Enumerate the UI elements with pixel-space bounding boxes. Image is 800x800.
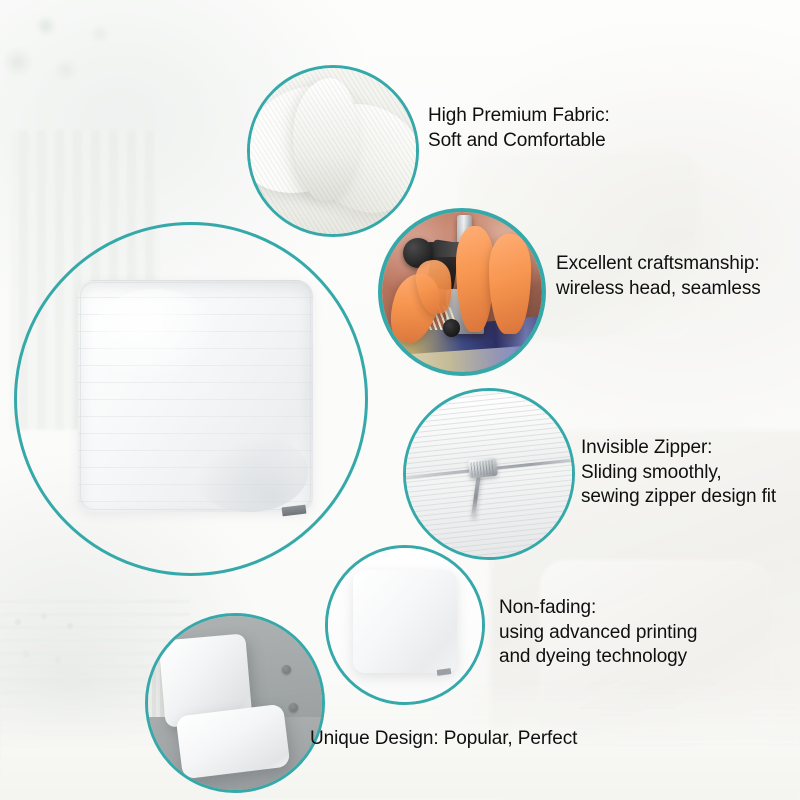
sewing-bobbin: [443, 319, 461, 337]
nonfading-pillow-art: [328, 548, 482, 702]
zipper-closeup-art: [406, 391, 572, 557]
sofa-tuft-button-1: [282, 665, 291, 674]
feature-label-fabric: High Premium Fabric: Soft and Comfortabl…: [428, 104, 610, 153]
zipper-slider: [468, 458, 498, 479]
feature-image-craftsmanship: [378, 208, 546, 376]
feature-image-zipper: [403, 388, 575, 560]
feature-label-craftsmanship: Excellent craftsmanship: wireless head, …: [556, 252, 761, 301]
fabric-weave-texture: [250, 68, 416, 234]
hero-highlight-ring: [14, 222, 368, 576]
infographic-canvas: High Premium Fabric: Soft and Comfortabl…: [0, 0, 800, 800]
nonfading-pillow: [353, 570, 458, 673]
feature-label-zipper: Invisible Zipper: Sliding smoothly, sewi…: [581, 436, 776, 510]
background-plant: [0, 0, 175, 175]
fabric-closeup-art: [250, 68, 416, 234]
sewing-finger-right: [489, 234, 531, 333]
feature-label-nonfading: Non-fading: using advanced printing and …: [499, 596, 697, 670]
feature-image-nonfading: [325, 545, 485, 705]
feature-label-unique-design: Unique Design: Popular, Perfect: [310, 727, 577, 752]
sofa-pillow-flat: [176, 704, 291, 779]
sewing-machine-art: [382, 212, 542, 372]
feature-image-unique-design: [145, 613, 325, 793]
sofa-lifestyle-art: [148, 616, 322, 790]
sofa-tuft-button-2: [289, 703, 298, 712]
